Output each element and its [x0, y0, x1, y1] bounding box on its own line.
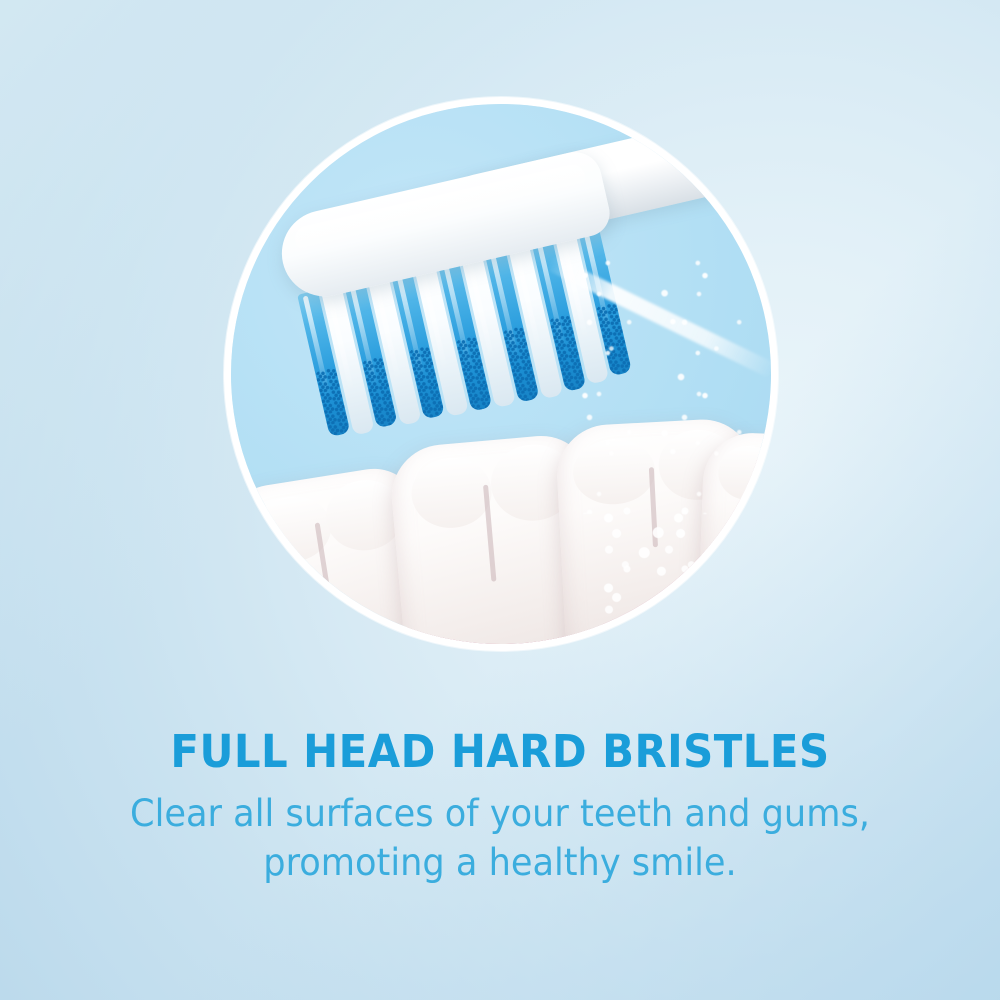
toothbrush-scene	[231, 104, 771, 644]
headline: FULL HEAD HARD BRISTLES	[100, 728, 900, 775]
tooth-cusp	[409, 454, 495, 531]
water-spray-foam	[591, 504, 771, 644]
product-feature-poster: FULL HEAD HARD BRISTLES Clear all surfac…	[0, 0, 1000, 1000]
caption-block: FULL HEAD HARD BRISTLES Clear all surfac…	[0, 728, 1000, 888]
water-droplets	[561, 254, 771, 514]
subcopy: Clear all surfaces of your teeth and gum…	[125, 789, 876, 887]
hero-image-circle	[231, 104, 771, 644]
